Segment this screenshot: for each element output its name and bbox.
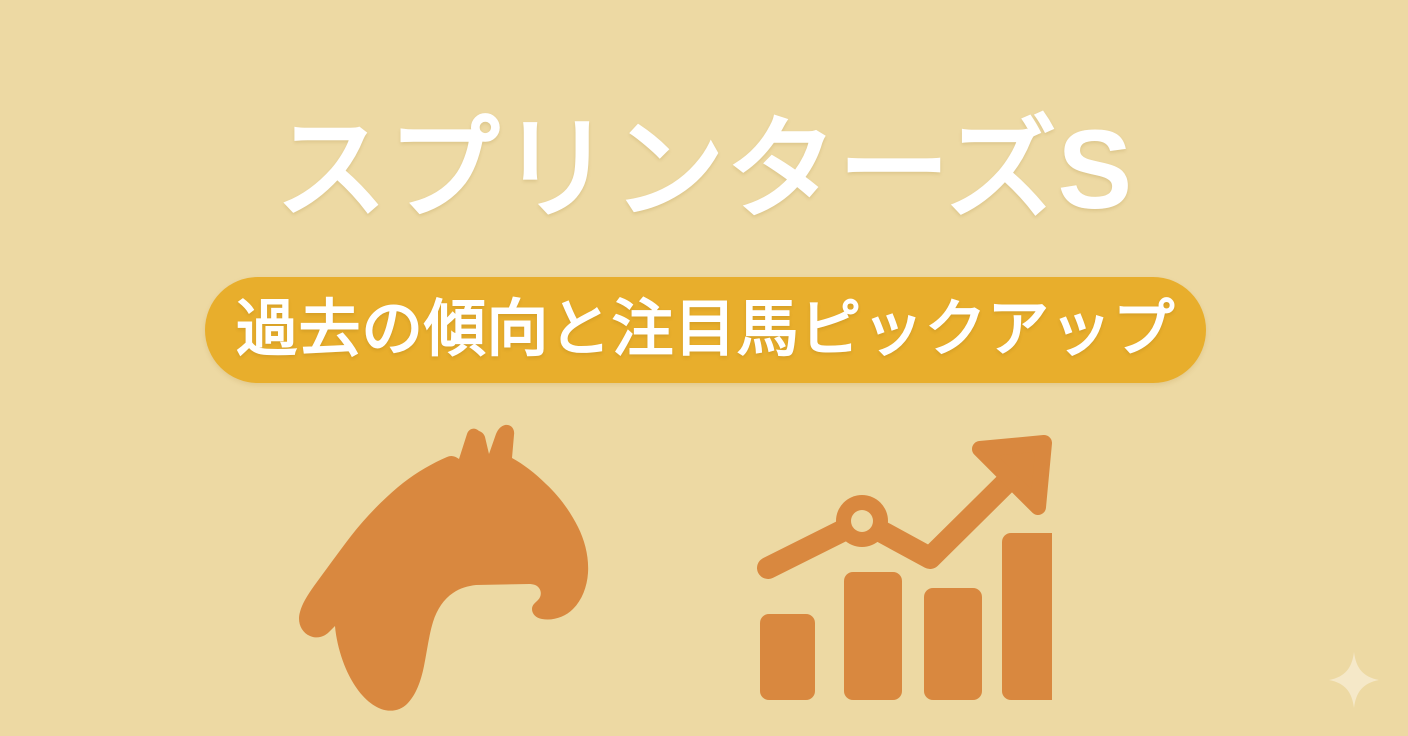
subtitle-pill: 過去の傾向と注目馬ピックアップ xyxy=(205,277,1206,383)
chart-bar-4 xyxy=(1002,533,1052,700)
sparkle-icon xyxy=(1329,652,1379,708)
horse-head-icon xyxy=(283,423,613,713)
chart-trend-line xyxy=(768,467,1022,568)
subtitle-label: 過去の傾向と注目馬ピックアップ xyxy=(236,297,1175,363)
icon-row xyxy=(0,415,1408,715)
chart-bar-2 xyxy=(844,572,902,700)
slide-canvas: スプリンターズS 過去の傾向と注目馬ピックアップ xyxy=(0,0,1408,736)
bar-chart-growth-icon xyxy=(752,425,1052,715)
page-title: スプリンターズS xyxy=(0,104,1408,236)
chart-trend-marker-hole xyxy=(851,510,873,532)
chart-bar-1 xyxy=(760,614,815,700)
chart-bar-3 xyxy=(924,588,982,700)
